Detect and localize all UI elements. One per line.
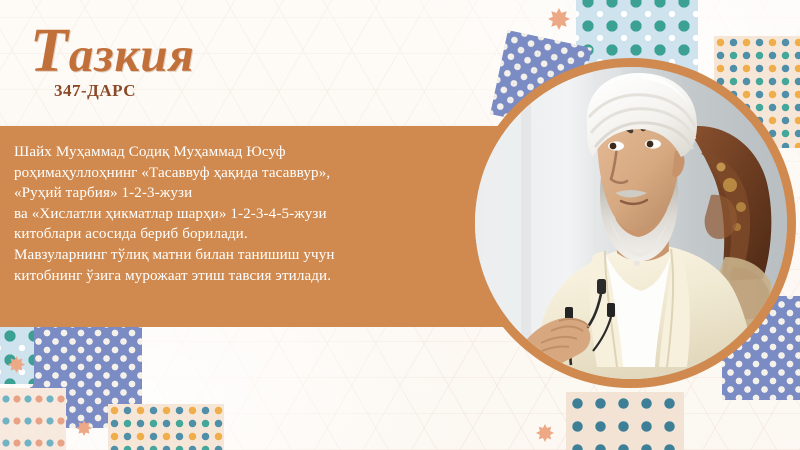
- tile-warm-bottom: [108, 404, 224, 450]
- portrait-frame: [466, 58, 796, 388]
- poster-canvas: Шайх Муҳаммад Содиқ Муҳаммад Юсуфроҳимаҳ…: [0, 0, 800, 450]
- banner-line: Шайх Муҳаммад Содиқ Муҳаммад Юсуф: [14, 142, 454, 163]
- title-block: Тазкия 347-ДАРС: [30, 26, 195, 101]
- lesson-number: 347-ДАРС: [54, 81, 195, 101]
- banner-description-text: Шайх Муҳаммад Содиқ Муҳаммад Юсуфроҳимаҳ…: [14, 142, 454, 286]
- portrait-photo: [475, 67, 787, 379]
- title-initial: Т: [30, 17, 69, 85]
- banner-line: китобнинг ўзига мурожаат этиш тавсия эти…: [14, 266, 454, 287]
- title-remainder: азкия: [69, 27, 195, 82]
- banner-line: «Руҳий тарбия» 1-2-3-жузи: [14, 183, 454, 204]
- banner-line: Мавзуларнинг тўлиқ матни билан танишиш у…: [14, 245, 454, 266]
- tile-dot-bottom: [566, 392, 684, 450]
- tile-teal-far-left: [0, 324, 34, 384]
- tile-pale-left: [0, 388, 66, 450]
- page-title: Тазкия: [30, 26, 195, 80]
- banner-line: ва «Хислатли ҳикматлар шарҳи» 1-2-3-4-5-…: [14, 204, 454, 225]
- star-bottom-mid: [536, 424, 554, 442]
- banner-line: китоблари асосида бериб борилади.: [14, 224, 454, 245]
- banner-line: роҳимаҳуллоҳнинг «Тасаввуф ҳақида тасавв…: [14, 163, 454, 184]
